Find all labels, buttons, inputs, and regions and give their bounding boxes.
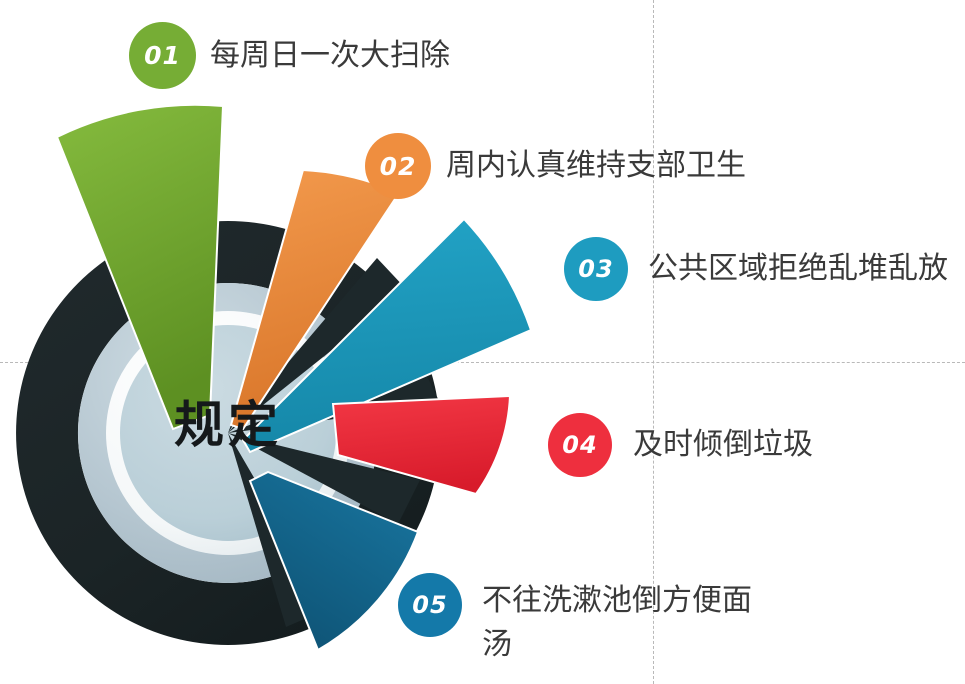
legend-item-04[interactable]: 04 及时倾倒垃圾	[548, 413, 813, 477]
legend-label-01: 每周日一次大扫除	[210, 34, 450, 78]
legend-item-05[interactable]: 05 不往洗漱池倒方便面 汤	[398, 573, 752, 667]
legend-item-03[interactable]: 03 公共区域拒绝乱堆乱放	[564, 237, 948, 301]
badge-02: 02	[365, 133, 431, 199]
legend-label-02: 周内认真维持支部卫生	[446, 144, 746, 188]
badge-03: 03	[564, 237, 628, 301]
badge-04: 04	[548, 413, 612, 477]
legend-item-01[interactable]: 01 每周日一次大扫除	[129, 22, 450, 89]
infographic-canvas: 规定 01 每周日一次大扫除 02 周内认真维持支部卫生 03 公共区域拒绝乱堆…	[0, 0, 965, 684]
badge-01: 01	[129, 22, 196, 89]
legend-label-04: 及时倾倒垃圾	[633, 423, 813, 467]
legend-label-03: 公共区域拒绝乱堆乱放	[648, 247, 948, 291]
legend-item-02[interactable]: 02 周内认真维持支部卫生	[365, 133, 746, 199]
badge-05: 05	[398, 573, 462, 637]
legend-label-05: 不往洗漱池倒方便面 汤	[482, 579, 752, 667]
